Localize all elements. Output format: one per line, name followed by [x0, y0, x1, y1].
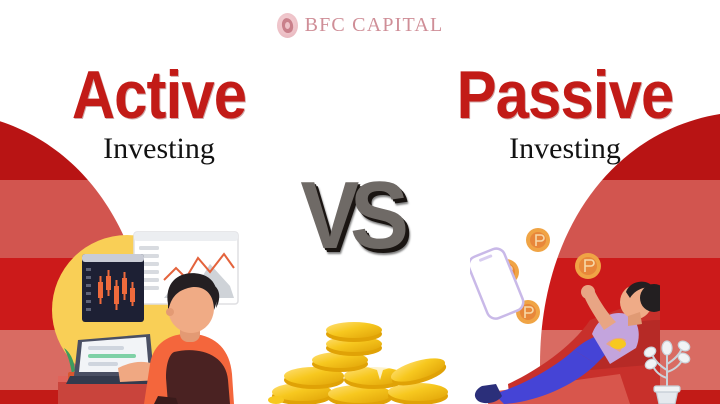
smartphone-icon — [470, 246, 526, 321]
brand-logo: BFC CAPITAL — [0, 10, 720, 40]
right-title: Passive — [437, 62, 692, 129]
right-headline-block: Passive Investing — [420, 62, 710, 164]
gold-coins-illustration — [268, 318, 454, 404]
versus-label: VS — [300, 168, 399, 264]
active-investor-illustration — [58, 228, 278, 404]
left-headline-block: Active Investing — [14, 62, 304, 164]
left-subtitle: Investing — [14, 133, 304, 165]
brand-name: BFC CAPITAL — [305, 15, 444, 35]
candlestick-chart-window-icon — [82, 254, 144, 322]
right-subtitle: Investing — [420, 133, 710, 165]
bfc-monogram-icon — [277, 13, 298, 38]
left-title: Active — [31, 62, 286, 129]
passive-investor-illustration — [470, 224, 660, 404]
poster-canvas: BFC CAPITAL Active Investing Passive Inv… — [0, 0, 720, 404]
potted-plant-illustration — [636, 330, 698, 404]
